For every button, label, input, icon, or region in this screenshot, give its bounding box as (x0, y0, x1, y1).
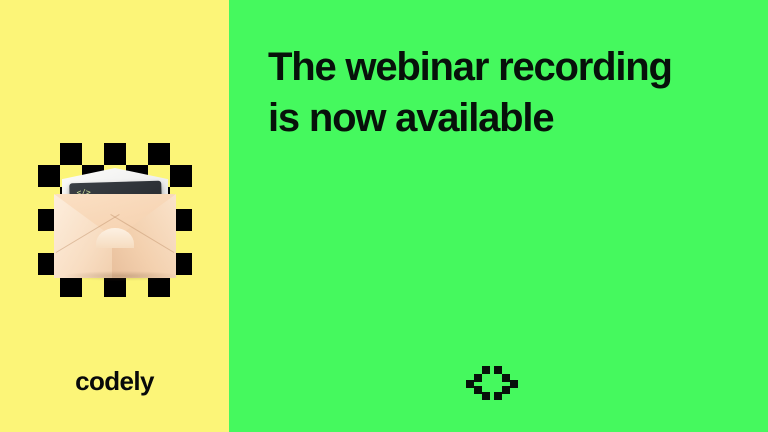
brace-pixel (502, 374, 510, 382)
brace-pixel (494, 366, 502, 374)
codely-wordmark: codely (0, 366, 229, 397)
checker-square (60, 143, 82, 165)
envelope-body (54, 194, 176, 278)
right-panel: The webinar recording is now available (229, 0, 768, 432)
headline-line-1: The webinar recording (268, 42, 738, 93)
promo-card: </> function() { return true; codely The… (0, 0, 768, 432)
headline-line-2: is now available (268, 93, 738, 144)
brace-pixel (494, 392, 502, 400)
brace-pixel (474, 374, 482, 382)
brace-pixel (510, 380, 518, 388)
envelope-illustration: </> function() { return true; (48, 168, 182, 278)
checker-square (104, 143, 126, 165)
brace-pixel (466, 380, 474, 388)
left-panel: </> function() { return true; codely (0, 0, 229, 432)
page-title: The webinar recording is now available (268, 42, 738, 144)
brace-pixel (502, 386, 510, 394)
checker-square (148, 143, 170, 165)
brace-pixel (482, 392, 490, 400)
envelope-shadow (64, 271, 180, 281)
brace-pixel (482, 366, 490, 374)
brace-pixel (474, 386, 482, 394)
pixel-curly-braces-icon (471, 366, 513, 400)
